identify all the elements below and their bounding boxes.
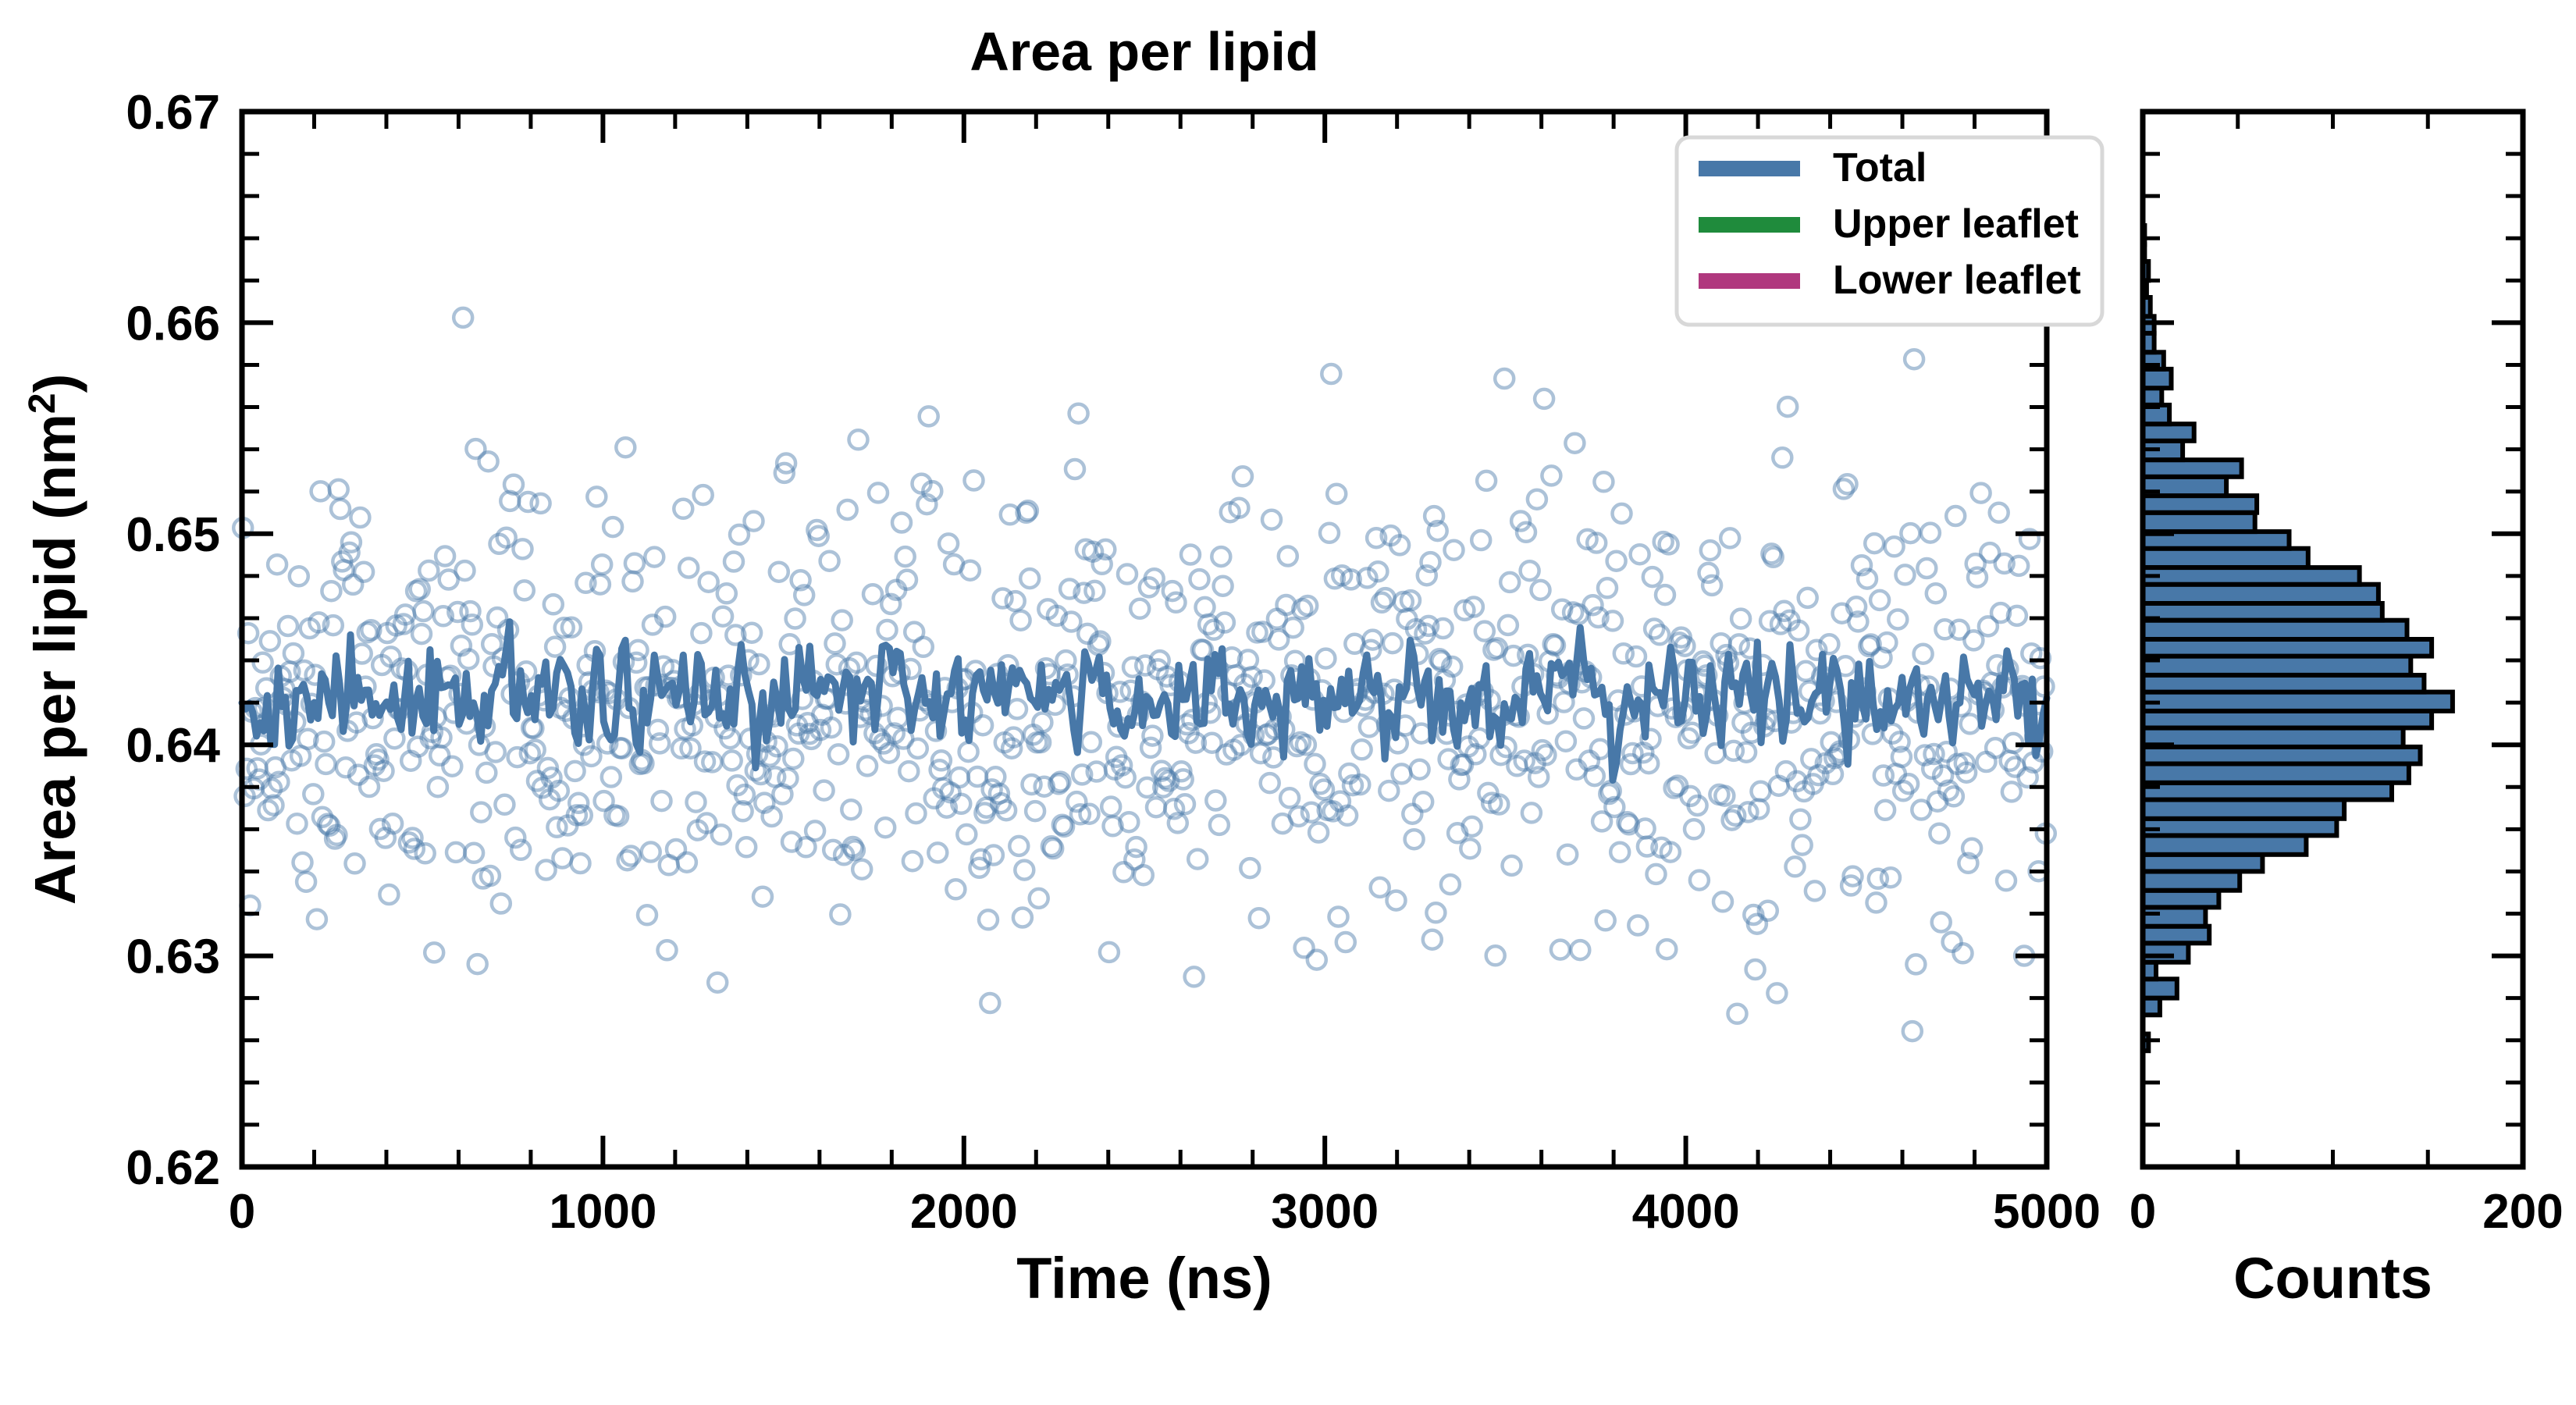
- histogram-bar: [2143, 855, 2262, 872]
- scatter-point: [1403, 805, 1421, 823]
- scatter-point: [1030, 889, 1048, 908]
- scatter-point: [784, 749, 802, 768]
- scatter-point: [1414, 792, 1432, 811]
- x-axis-label: Time (ns): [1016, 1246, 1272, 1311]
- scatter-point: [492, 895, 511, 913]
- scatter-point: [1657, 940, 1676, 959]
- scatter-point: [1888, 610, 1907, 629]
- scatter-point: [899, 762, 918, 781]
- scatter-point: [1082, 733, 1101, 752]
- scatter-point: [479, 452, 498, 471]
- scatter-point: [957, 825, 976, 844]
- scatter-point: [876, 818, 895, 837]
- scatter-point: [961, 561, 980, 580]
- legend-swatch: [1699, 217, 1800, 233]
- scatter-point: [1212, 547, 1230, 566]
- scatter-point: [1737, 743, 1756, 762]
- scatter-point: [1461, 839, 1479, 858]
- scatter-point: [950, 768, 969, 787]
- y-tick-label: 0.63: [126, 930, 220, 984]
- scatter-point: [1914, 645, 1933, 663]
- scatter-point: [1309, 823, 1328, 842]
- y-tick-label: 0.64: [126, 719, 220, 773]
- scatter-point: [946, 880, 965, 898]
- scatter-point: [1591, 740, 1610, 759]
- scatter-point: [261, 631, 279, 650]
- scatter-point: [678, 853, 696, 872]
- scatter-point: [571, 854, 590, 873]
- scatter-point: [1865, 534, 1884, 553]
- scatter-point: [1647, 865, 1666, 884]
- scatter-point: [1656, 585, 1674, 604]
- scatter-point: [863, 585, 882, 603]
- y-tick-label: 0.66: [126, 297, 220, 350]
- scatter-point: [1596, 911, 1615, 930]
- scatter-point: [546, 638, 564, 656]
- scatter-point: [1594, 472, 1613, 491]
- scatter-point: [1731, 610, 1750, 628]
- scatter-point: [1571, 941, 1589, 959]
- x-tick-label: 2000: [910, 1185, 1018, 1239]
- histogram-bar: [2143, 800, 2344, 819]
- scatter-point: [1147, 798, 1165, 816]
- scatter-point: [464, 844, 483, 863]
- scatter-point: [526, 741, 545, 759]
- scatter-point: [430, 746, 449, 765]
- scatter-point: [1522, 803, 1541, 822]
- scatter-point: [1528, 490, 1546, 509]
- scatter-point: [290, 567, 308, 585]
- scatter-point: [414, 602, 432, 621]
- scatter-point: [488, 608, 507, 627]
- scatter-point: [308, 910, 326, 929]
- scatter-point: [1379, 781, 1398, 800]
- scatter-point: [1930, 824, 1948, 843]
- scatter-point: [658, 941, 677, 959]
- scatter-point: [625, 554, 644, 573]
- scatter-point: [1542, 466, 1560, 485]
- scatter-point: [1990, 503, 2008, 522]
- scatter-point: [1100, 943, 1119, 962]
- scatter-point: [1690, 871, 1709, 890]
- scatter-point: [679, 559, 698, 578]
- x-tick-label: 4000: [1632, 1185, 1740, 1239]
- area-per-lipid-figure: 0100020003000400050000.620.630.640.650.6…: [0, 0, 2576, 1405]
- scatter-point: [852, 860, 871, 879]
- scatter-point: [638, 905, 656, 924]
- histogram-bar: [2143, 656, 2411, 675]
- scatter-point: [1233, 467, 1252, 486]
- scatter-point: [1896, 565, 1915, 584]
- scatter-point: [1628, 916, 1647, 935]
- scatter-point: [1643, 567, 1662, 586]
- scatter-point: [831, 905, 849, 924]
- y-tick-label: 0.62: [126, 1141, 220, 1195]
- scatter-point: [1870, 591, 1889, 610]
- x-tick-label: 0: [2129, 1185, 2156, 1239]
- scatter-point: [723, 751, 742, 770]
- scatter-point: [311, 482, 330, 500]
- scatter-point: [1441, 875, 1460, 894]
- scatter-point: [980, 994, 999, 1012]
- scatter-point: [317, 755, 336, 774]
- scatter-point: [322, 582, 340, 600]
- histogram-bar: [2143, 747, 2421, 764]
- scatter-point: [350, 508, 369, 527]
- scatter-point: [1026, 802, 1044, 820]
- scatter-point: [1749, 800, 1768, 819]
- histogram-bar: [2143, 567, 2360, 585]
- scatter-point: [1015, 861, 1034, 880]
- scatter-point: [1627, 647, 1646, 666]
- scatter-point: [532, 494, 550, 513]
- scatter-point: [1558, 845, 1577, 864]
- y-tick-label: 0.67: [126, 86, 220, 140]
- scatter-point: [1713, 892, 1732, 911]
- scatter-point: [833, 611, 852, 630]
- scatter-point: [674, 500, 692, 518]
- scatter-point: [1340, 764, 1358, 783]
- histogram-bar: [2143, 819, 2336, 836]
- scatter-point: [477, 763, 496, 782]
- scatter-point: [1353, 740, 1372, 759]
- legend: TotalUpper leafletLower leaflet: [1677, 137, 2102, 325]
- scatter-point: [1532, 581, 1550, 599]
- scatter-point: [1867, 893, 1886, 912]
- scatter-point: [343, 575, 362, 594]
- scatter-point: [1746, 960, 1765, 979]
- scatter-point: [1127, 838, 1146, 856]
- histogram-bar: [2143, 549, 2308, 567]
- scatter-point: [1371, 878, 1389, 897]
- scatter-point: [699, 573, 718, 592]
- scatter-point: [909, 739, 927, 758]
- scatter-point: [770, 563, 788, 582]
- scatter-point: [737, 838, 756, 856]
- histogram-bar: [2143, 836, 2306, 855]
- scatter-point: [495, 795, 514, 814]
- scatter-point: [1838, 475, 1857, 493]
- scatter-point: [914, 638, 933, 656]
- scatter-point: [1773, 448, 1791, 467]
- scatter-point: [1961, 714, 1980, 733]
- scatter-point: [717, 584, 736, 603]
- scatter-point: [1322, 365, 1340, 383]
- scatter-point: [1712, 634, 1731, 653]
- scatter-point: [896, 547, 915, 566]
- scatter-point: [1261, 774, 1279, 792]
- scatter-point: [786, 610, 805, 628]
- scatter-point: [429, 777, 447, 796]
- scatter-point: [553, 849, 571, 868]
- scatter-point: [468, 955, 487, 973]
- scatter-point: [1565, 434, 1584, 453]
- histogram-bar: [2143, 424, 2194, 441]
- scatter-point: [1799, 589, 1817, 607]
- legend-label: Upper leaflet: [1833, 201, 2079, 247]
- scatter-point: [1901, 524, 1920, 542]
- histogram-bar: [2143, 675, 2424, 692]
- scatter-point: [1521, 561, 1539, 580]
- scatter-point: [724, 553, 743, 571]
- legend-label: Total: [1833, 145, 1927, 190]
- hist-x-axis-label: Counts: [2233, 1246, 2432, 1311]
- scatter-point: [1557, 732, 1575, 751]
- scatter-point: [1786, 857, 1805, 876]
- scatter-point: [346, 854, 365, 873]
- scatter-points-total: [233, 308, 2055, 1040]
- scatter-point: [1932, 913, 1951, 932]
- scatter-point: [1181, 546, 1200, 564]
- scatter-point: [471, 803, 490, 822]
- scatter-point: [268, 555, 286, 574]
- scatter-point: [1262, 510, 1281, 529]
- scatter-point: [713, 607, 732, 626]
- scatter-point: [284, 644, 303, 663]
- scatter-point: [1167, 593, 1186, 612]
- scatter-point: [1551, 941, 1570, 959]
- scatter-point: [1475, 622, 1494, 641]
- histogram-bar: [2143, 943, 2188, 962]
- scatter-point: [1114, 863, 1133, 881]
- scatter-point: [692, 624, 710, 642]
- histogram-bar: [2143, 639, 2432, 656]
- scatter-point: [288, 814, 307, 833]
- histogram-bar: [2143, 513, 2255, 532]
- figure-canvas: 0100020003000400050000.620.630.640.650.6…: [0, 0, 2576, 1405]
- histogram-bar: [2143, 369, 2172, 388]
- scatter-point: [514, 539, 532, 558]
- scatter-point: [1683, 724, 1702, 742]
- y-axis-label: Area per lipid (nm2): [22, 374, 88, 905]
- scatter-point: [515, 581, 534, 599]
- scatter-point: [1336, 933, 1355, 951]
- scatter-point: [745, 512, 763, 531]
- scatter-point: [1130, 599, 1149, 618]
- scatter-point: [841, 800, 860, 819]
- histogram-bar: [2143, 783, 2392, 800]
- scatter-point: [1360, 717, 1379, 736]
- scatter-point: [456, 561, 475, 580]
- scatter-point: [566, 762, 585, 781]
- scatter-point: [329, 480, 348, 499]
- scatter-point: [1327, 485, 1346, 503]
- scatter-point: [1806, 881, 1824, 900]
- scatter-point: [1631, 545, 1649, 564]
- histogram-bar: [2143, 728, 2403, 747]
- scatter-point: [1240, 859, 1259, 877]
- scatter-point: [603, 518, 622, 536]
- scatter-point: [820, 552, 839, 571]
- scatter-point: [965, 471, 984, 490]
- scatter-point: [412, 624, 431, 643]
- scatter-point: [294, 853, 312, 872]
- scatter-point: [753, 887, 772, 906]
- scatter-point: [1921, 524, 1940, 542]
- scatter-point: [1972, 484, 1991, 503]
- scatter-point: [1968, 568, 1987, 587]
- histogram-bar: [2143, 585, 2379, 603]
- scatter-point: [1917, 559, 1936, 578]
- scatter-point: [1445, 541, 1464, 560]
- scatter-point: [928, 843, 947, 862]
- scatter-point: [869, 483, 888, 502]
- scatter-point: [360, 777, 379, 796]
- x-tick-label: 200: [2482, 1185, 2563, 1239]
- scatter-point: [1701, 541, 1720, 560]
- scatter-point: [878, 621, 897, 639]
- scatter-point: [1535, 389, 1553, 408]
- scatter-point: [629, 641, 648, 660]
- histogram-bar: [2143, 764, 2409, 783]
- scatter-point: [892, 514, 911, 532]
- scatter-point: [1320, 524, 1339, 542]
- scatter-point: [1752, 782, 1770, 801]
- scatter-point: [1118, 565, 1137, 584]
- scatter-point: [569, 794, 588, 813]
- scatter-point: [1471, 531, 1490, 550]
- scatter-point: [1188, 850, 1207, 869]
- scatter-point: [1280, 788, 1299, 807]
- scatter-point: [1426, 903, 1445, 922]
- scatter-point: [1486, 946, 1505, 965]
- scatter-point: [979, 910, 998, 929]
- scatter-point: [1728, 1005, 1747, 1023]
- histogram-bar: [2143, 460, 2242, 477]
- scatter-point: [1613, 504, 1631, 523]
- scatter-point: [1066, 460, 1084, 478]
- x-tick-label: 3000: [1271, 1185, 1379, 1239]
- scatter-point: [1250, 909, 1268, 927]
- scatter-point: [806, 821, 824, 840]
- scatter-point: [1614, 644, 1633, 663]
- scatter-point: [645, 548, 664, 567]
- scatter-point: [463, 615, 482, 634]
- scatter-point: [331, 500, 350, 518]
- scatter-point: [425, 943, 443, 962]
- scatter-point: [616, 438, 635, 457]
- scatter-point: [486, 743, 505, 762]
- scatter-point: [749, 655, 768, 674]
- scatter-point: [903, 852, 922, 870]
- scatter-point: [858, 756, 877, 775]
- histogram-bar: [2143, 927, 2209, 944]
- scatter-point: [1251, 744, 1270, 763]
- scatter-point: [279, 617, 297, 635]
- x-tick-label: 5000: [1993, 1185, 2101, 1239]
- scatter-point: [1574, 709, 1593, 727]
- scatter-point: [1405, 830, 1424, 848]
- scatter-point: [1387, 891, 1406, 910]
- scatter-point: [624, 572, 642, 591]
- scatter-point: [959, 742, 978, 761]
- histogram-bar: [2143, 603, 2382, 621]
- scatter-point: [1013, 909, 1032, 927]
- scatter-point: [1767, 983, 1786, 1002]
- scatter-point: [642, 843, 660, 862]
- scatter-point: [1778, 397, 1797, 416]
- scatter-point: [1607, 552, 1626, 571]
- scatter-point: [259, 801, 278, 820]
- legend-label: Lower leaflet: [1833, 258, 2081, 303]
- scatter-point: [1185, 967, 1204, 986]
- scatter-point: [379, 885, 398, 904]
- scatter-point: [1610, 843, 1629, 862]
- scatter-point: [1411, 760, 1429, 779]
- x-tick-label: 0: [229, 1185, 255, 1239]
- scatter-point: [1069, 404, 1088, 423]
- scatter-point: [1306, 755, 1325, 774]
- scatter-point: [592, 555, 611, 574]
- scatter-point: [1703, 576, 1721, 595]
- scatter-point: [1685, 820, 1703, 838]
- scatter-point: [1284, 618, 1303, 637]
- histogram-bar: [2143, 979, 2177, 998]
- scatter-point: [1905, 350, 1923, 368]
- scatter-point: [1997, 871, 2016, 890]
- scatter-point: [1598, 578, 1617, 597]
- scatter-point: [1943, 933, 1962, 951]
- scatter-point: [815, 781, 834, 800]
- scatter-point: [602, 768, 621, 787]
- scatter-point: [1190, 570, 1209, 589]
- scatter-point: [1214, 577, 1233, 596]
- scatter-point: [1946, 507, 1965, 525]
- histogram-bar: [2143, 871, 2240, 890]
- scatter-point: [1906, 955, 1925, 973]
- legend-swatch: [1699, 161, 1800, 176]
- scatter-point: [1308, 951, 1326, 969]
- scatter-point: [1329, 908, 1348, 927]
- scatter-point: [1499, 616, 1517, 635]
- page-title: Area per lipid: [970, 21, 1318, 82]
- histogram-bar: [2143, 891, 2218, 908]
- scatter-point: [353, 645, 372, 663]
- scatter-point: [694, 486, 713, 504]
- scatter-point: [1012, 611, 1030, 630]
- scatter-point: [920, 407, 938, 425]
- scatter-point: [1008, 699, 1026, 718]
- scatter-point: [1316, 649, 1335, 668]
- scatter-point: [849, 430, 868, 449]
- scatter-point: [1954, 944, 1973, 962]
- scatter-point: [1376, 589, 1395, 607]
- scatter-point: [708, 973, 727, 992]
- scatter-point: [2002, 782, 2021, 801]
- scatter-point: [1720, 528, 1739, 547]
- scatter-point: [447, 843, 465, 862]
- scatter-point: [1006, 592, 1025, 610]
- scatter-point: [419, 561, 438, 580]
- scatter-point: [1881, 868, 1900, 887]
- scatter-point: [1500, 573, 1519, 592]
- scatter-point: [443, 757, 461, 776]
- x-tick-label: 1000: [549, 1185, 656, 1239]
- scatter-point: [1101, 798, 1120, 816]
- scatter-point: [939, 534, 958, 553]
- legend-swatch: [1699, 273, 1800, 289]
- scatter-point: [1876, 801, 1895, 820]
- histogram-bars: [2143, 226, 2453, 1051]
- scatter-point: [1210, 816, 1229, 834]
- scatter-point: [1143, 727, 1162, 745]
- scatter-point: [587, 487, 606, 506]
- scatter-point: [1423, 930, 1442, 949]
- scatter-point: [544, 595, 563, 614]
- scatter-point: [653, 791, 671, 810]
- scatter-point: [907, 804, 926, 823]
- scatter-point: [254, 653, 272, 672]
